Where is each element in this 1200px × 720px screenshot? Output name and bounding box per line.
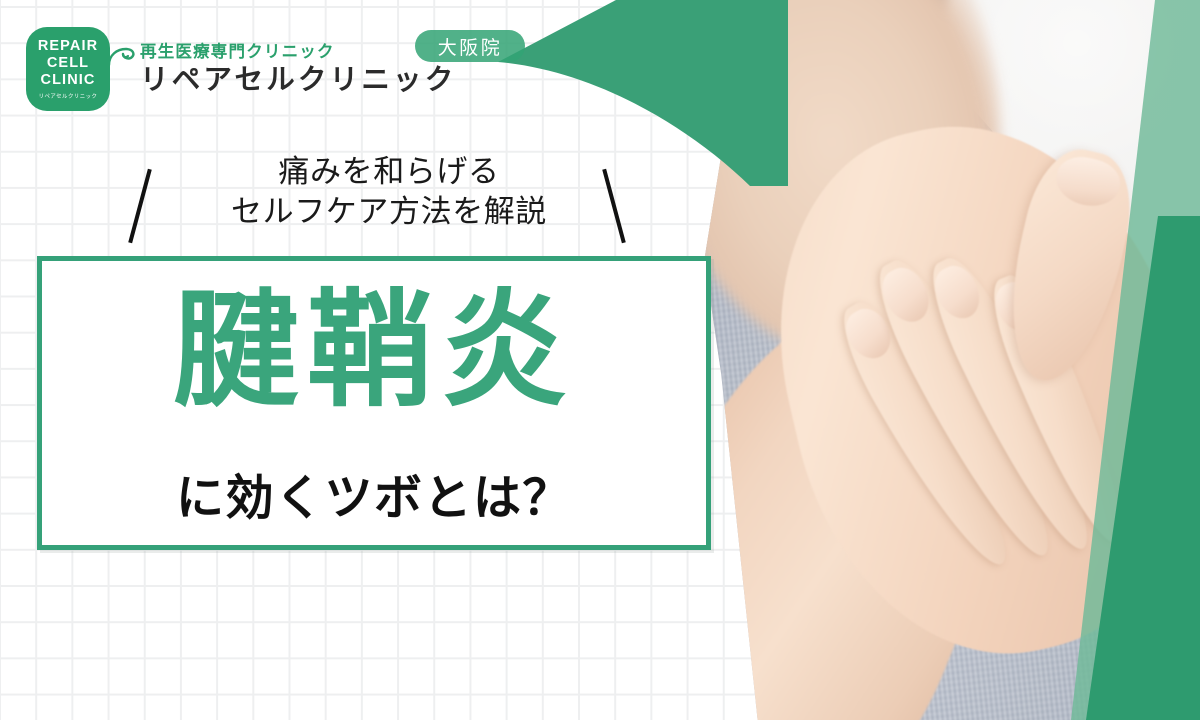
subhead-line-2: セルフケア方法を解説: [174, 192, 604, 232]
logo-badge-line-1: REPAIR: [38, 38, 98, 55]
sprout-leaf-icon: [106, 46, 136, 72]
logo-text-block: 再生医療専門クリニック リペアセルクリニック: [140, 44, 456, 95]
headline-subtitle: に効くツボとは？: [42, 475, 706, 523]
branch-badge[interactable]: 大阪院: [415, 30, 525, 62]
thumbnail-canvas: REPAIR CELL CLINIC リペアセルクリニック 再生医療専門クリニッ…: [0, 0, 1200, 720]
brand-logo[interactable]: REPAIR CELL CLINIC リペアセルクリニック 再生医療専門クリニッ…: [26, 27, 456, 111]
logo-badge: REPAIR CELL CLINIC リペアセルクリニック: [26, 27, 110, 111]
headline-card: 腱鞘炎 に効くツボとは？: [37, 256, 711, 550]
logo-badge-line-3: CLINIC: [41, 72, 96, 89]
subhead-row: 痛みを和らげる セルフケア方法を解説: [118, 152, 658, 252]
subhead-text: 痛みを和らげる セルフケア方法を解説: [174, 152, 604, 231]
logo-badge-line-2: CELL: [47, 55, 89, 72]
logo-badge-kana: リペアセルクリニック: [39, 92, 98, 100]
photo-thumbnail-nail: [1052, 152, 1124, 212]
slash-right-mark: [602, 169, 626, 243]
slash-left-mark: [128, 169, 152, 243]
page-title: 腱鞘炎: [42, 285, 706, 417]
logo-clinic-name: リペアセルクリニック: [140, 66, 456, 95]
subhead-line-1: 痛みを和らげる: [174, 152, 604, 192]
logo-kicker: 再生医療専門クリニック: [140, 44, 456, 61]
